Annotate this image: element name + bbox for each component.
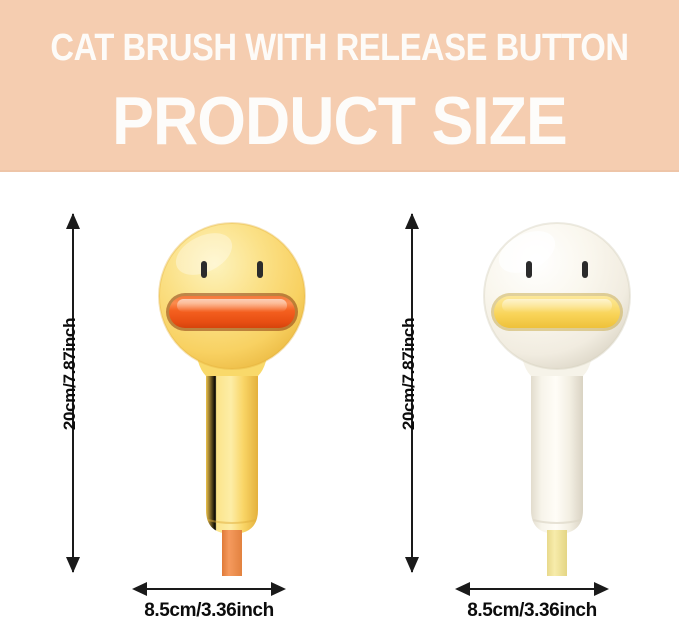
yellow-brush-illustration (132, 214, 332, 581)
right-eye-icon (582, 261, 588, 278)
banner-subtitle: PRODUCT SIZE (27, 84, 652, 158)
brush-tip (547, 530, 567, 576)
brush-tip (222, 530, 242, 576)
product-white-block: 20cm/7.87inch (339, 172, 679, 637)
arrow-up-icon (66, 213, 80, 229)
width-dimension-label: 8.5cm/3.36inch (451, 600, 613, 622)
height-dimension-yellow: 20cm/7.87inch (56, 214, 90, 572)
left-eye-icon (201, 261, 207, 278)
white-brush-svg (457, 214, 657, 576)
arrow-down-icon (405, 557, 419, 573)
arrow-right-icon (594, 582, 609, 596)
arrow-right-icon (271, 582, 286, 596)
width-dimension-line (461, 588, 601, 590)
yellow-brush-svg (132, 214, 332, 576)
right-eye-icon (257, 261, 263, 278)
height-dimension-white: 20cm/7.87inch (395, 214, 429, 572)
product-diagram-area: 20cm/7.87inch (0, 172, 679, 637)
release-button-gloss (502, 299, 612, 312)
width-dimension-yellow: 8.5cm/3.36inch (0, 578, 340, 634)
release-button-gloss (177, 299, 287, 312)
arrow-left-icon (455, 582, 470, 596)
arrow-up-icon (405, 213, 419, 229)
arrow-left-icon (132, 582, 147, 596)
product-yellow-block: 20cm/7.87inch (0, 172, 340, 637)
width-dimension-label: 8.5cm/3.36inch (128, 600, 290, 622)
product-size-infographic: CAT BRUSH WITH RELEASE BUTTON PRODUCT SI… (0, 0, 679, 637)
width-dimension-white: 8.5cm/3.36inch (339, 578, 679, 634)
height-dimension-label: 20cm/7.87inch (399, 284, 419, 464)
arrow-down-icon (66, 557, 80, 573)
white-brush-illustration (457, 214, 657, 581)
left-eye-icon (526, 261, 532, 278)
width-dimension-line (138, 588, 278, 590)
banner-title: CAT BRUSH WITH RELEASE BUTTON (48, 26, 632, 70)
header-banner: CAT BRUSH WITH RELEASE BUTTON PRODUCT SI… (0, 0, 679, 172)
height-dimension-label: 20cm/7.87inch (60, 284, 80, 464)
